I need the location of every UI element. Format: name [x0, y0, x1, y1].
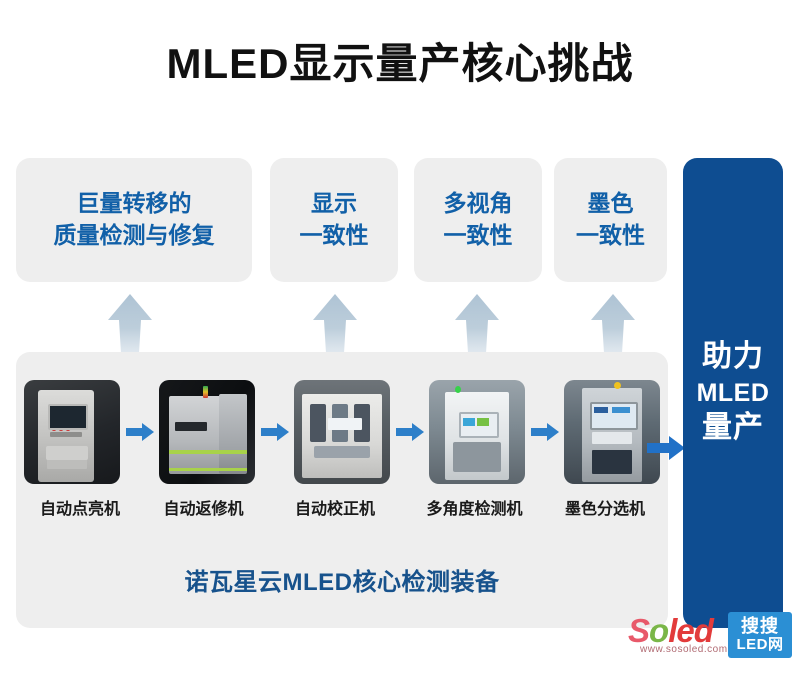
watermark-logo: Soled www.sosoled.com 搜搜 LED网	[628, 612, 796, 664]
challenge-card-mass-transfer-quality[interactable]: 巨量转移的 质量检测与修复	[16, 158, 252, 282]
challenge-card-ink-color-consistency[interactable]: 墨色 一致性	[554, 158, 667, 282]
machine-label-multi-angle-inspection: 多角度检测机	[411, 495, 539, 519]
machine-label-auto-repair: 自动返修机	[148, 495, 260, 519]
machine-photo-row	[24, 378, 660, 486]
right-arrow-icon	[647, 434, 685, 462]
flow-arrow-icon	[261, 422, 289, 442]
challenge-card-line-2: 一致性	[300, 220, 369, 252]
watermark-url: www.sosoled.com	[640, 644, 728, 655]
challenge-card-line-1: 显示	[311, 188, 357, 220]
flow-arrow-icon	[126, 422, 154, 442]
challenge-card-line-2: 质量检测与修复	[54, 220, 215, 252]
machine-label-lighting-tester: 自动点亮机	[24, 495, 136, 519]
flow-arrow-icon	[531, 422, 559, 442]
equipment-panel: 自动点亮机 自动返修机 自动校正机 多角度检测机 墨色分选机 诺瓦星云MLED核…	[16, 352, 668, 628]
challenge-card-line-1: 墨色	[588, 188, 634, 220]
outcome-line-1: 助力	[702, 338, 764, 376]
machine-label-ink-color-sorting: 墨色分选机	[550, 495, 660, 519]
challenge-card-display-consistency[interactable]: 显示 一致性	[270, 158, 398, 282]
machine-photo-auto-repair	[159, 380, 255, 484]
machine-photo-ink-color-sorting	[564, 380, 660, 484]
flow-arrow-icon	[396, 422, 424, 442]
outcome-line-2: MLED	[697, 377, 770, 410]
watermark-brand: Soled	[628, 614, 713, 647]
watermark-badge-line-1: 搜搜	[741, 617, 779, 636]
page-title: MLED显示量产核心挑战	[0, 30, 800, 91]
machine-label-auto-calibration: 自动校正机	[271, 495, 399, 519]
challenge-card-line-2: 一致性	[444, 220, 513, 252]
challenge-card-line-1: 多视角	[444, 188, 513, 220]
equipment-panel-caption: 诺瓦星云MLED核心检测装备	[16, 562, 668, 597]
outcome-line-3: 量产	[702, 409, 764, 447]
watermark-badge-line-2: LED网	[736, 636, 783, 653]
machine-label-row: 自动点亮机 自动返修机 自动校正机 多角度检测机 墨色分选机	[24, 494, 660, 520]
outcome-panel[interactable]: 助力 MLED 量产	[683, 158, 783, 628]
machine-photo-lighting-tester	[24, 380, 120, 484]
challenge-card-multi-view-consistency[interactable]: 多视角 一致性	[414, 158, 542, 282]
machine-photo-auto-calibration	[294, 380, 390, 484]
machine-photo-multi-angle-inspection	[429, 380, 525, 484]
watermark-badge: 搜搜 LED网	[728, 612, 792, 658]
challenge-card-line-2: 一致性	[576, 220, 645, 252]
challenge-card-line-1: 巨量转移的	[77, 188, 192, 220]
